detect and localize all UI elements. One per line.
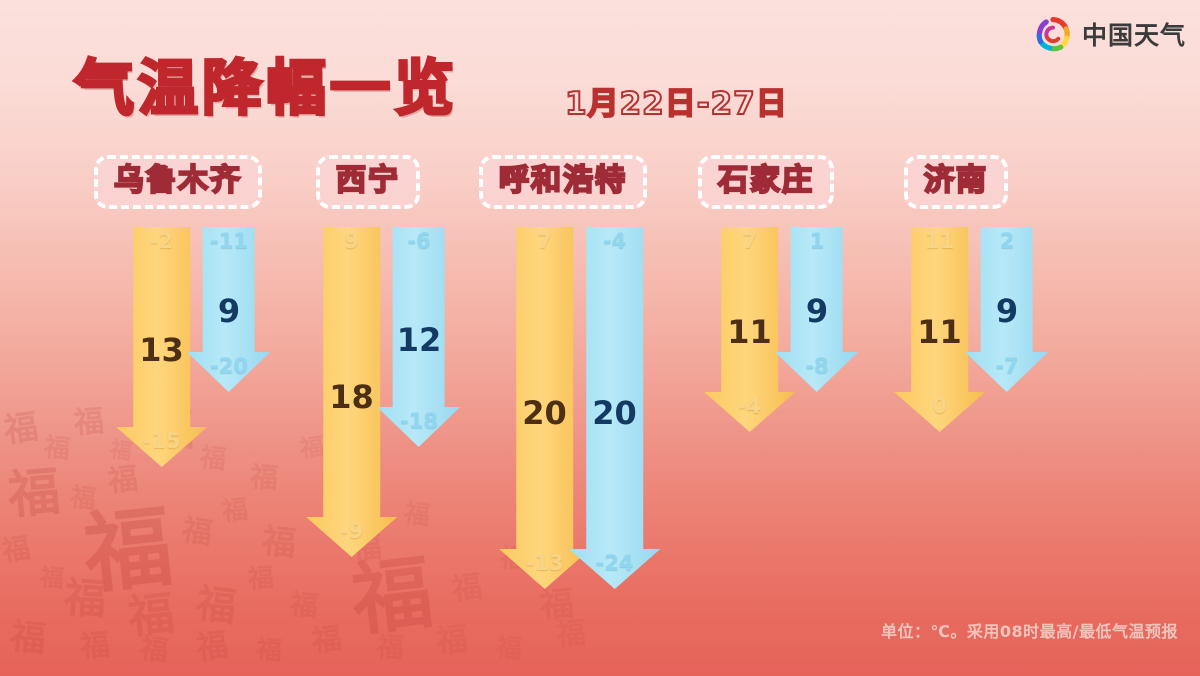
arrow-shape-icon xyxy=(774,227,859,392)
fu-glyph: 福 xyxy=(68,484,97,513)
low-temp-arrow: 29-7 xyxy=(981,227,1033,392)
fu-glyph: 福 xyxy=(495,635,524,664)
brand-logo: 中国天气 xyxy=(1033,14,1186,54)
fu-glyph: 福 xyxy=(73,407,105,439)
city-name-label: 乌鲁木齐 xyxy=(114,164,242,198)
low-temp-arrow: 19-8 xyxy=(791,227,843,392)
city-name-chip[interactable]: 西宁 xyxy=(316,155,420,209)
fu-glyph: 福 xyxy=(221,497,249,525)
arrow-shape-icon xyxy=(964,227,1049,392)
arrow-shape-icon xyxy=(376,227,461,447)
fu-glyph: 福 xyxy=(289,591,320,622)
low-temp-arrow: -119-20 xyxy=(203,227,255,392)
date-range-subtitle: 1月22日-27日 xyxy=(565,78,788,123)
fu-glyph: 福 xyxy=(180,516,214,550)
low-temp-arrow: -420-24 xyxy=(586,227,643,589)
low-temp-arrow: -612-18 xyxy=(393,227,445,447)
arrow-shape-icon xyxy=(186,227,271,392)
fu-glyph: 福 xyxy=(450,572,484,606)
city-name-label: 济南 xyxy=(924,164,988,198)
fu-glyph: 福 xyxy=(8,618,48,658)
high-temp-arrow: -213-15 xyxy=(133,227,190,467)
page-title: 气温降幅一览 xyxy=(74,40,458,127)
fu-glyph: 福 xyxy=(347,551,436,640)
fu-glyph: 福 xyxy=(435,623,470,658)
fu-glyph: 福 xyxy=(402,500,431,529)
fu-glyph: 福 xyxy=(2,410,40,448)
fu-glyph: 福 xyxy=(194,628,229,663)
fu-glyph: 福 xyxy=(247,565,274,592)
fu-glyph: 福 xyxy=(138,634,169,665)
fu-glyph: 福 xyxy=(79,631,112,664)
fu-glyph: 福 xyxy=(555,619,587,651)
fu-glyph: 福 xyxy=(260,524,297,561)
fu-glyph: 福 xyxy=(375,633,405,663)
arrow-shape-icon xyxy=(568,227,661,589)
fu-glyph: 福 xyxy=(194,584,239,629)
fu-glyph: 福 xyxy=(63,577,108,622)
fu-glyph: 福 xyxy=(539,587,575,623)
fu-glyph: 福 xyxy=(249,463,279,493)
high-temp-arrow: 720-13 xyxy=(516,227,573,589)
fu-glyph: 福 xyxy=(0,534,32,566)
high-temp-arrow: 918-9 xyxy=(323,227,380,557)
infographic-canvas: 福福福福福福福福福福福福福福福福福福福福福福福福福福福福福福福福福福福福福福福福… xyxy=(0,0,1200,676)
fu-glyph: 福 xyxy=(310,624,343,657)
unit-footnote: 单位：℃。采用08时最高/最低气温预报 xyxy=(881,618,1178,642)
city-name-chip[interactable]: 济南 xyxy=(904,155,1008,209)
city-name-label: 西宁 xyxy=(336,164,400,198)
fu-glyph: 福 xyxy=(126,590,177,641)
city-name-label: 石家庄 xyxy=(718,164,814,198)
city-name-chip[interactable]: 石家庄 xyxy=(698,155,834,209)
weather-spiral-logo-icon xyxy=(1033,14,1073,54)
high-temp-arrow: 711-4 xyxy=(721,227,778,432)
fu-glyph: 福 xyxy=(107,465,140,498)
fu-glyph: 福 xyxy=(6,466,62,522)
high-temp-arrow: 11110 xyxy=(911,227,968,432)
brand-name: 中国天气 xyxy=(1082,16,1186,52)
fu-glyph: 福 xyxy=(39,565,65,591)
city-name-label: 呼和浩特 xyxy=(499,164,627,198)
city-name-chip[interactable]: 呼和浩特 xyxy=(479,155,647,209)
fu-glyph: 福 xyxy=(80,502,177,599)
fu-glyph: 福 xyxy=(255,637,283,665)
city-name-chip[interactable]: 乌鲁木齐 xyxy=(94,155,262,209)
fu-glyph: 福 xyxy=(43,435,72,464)
